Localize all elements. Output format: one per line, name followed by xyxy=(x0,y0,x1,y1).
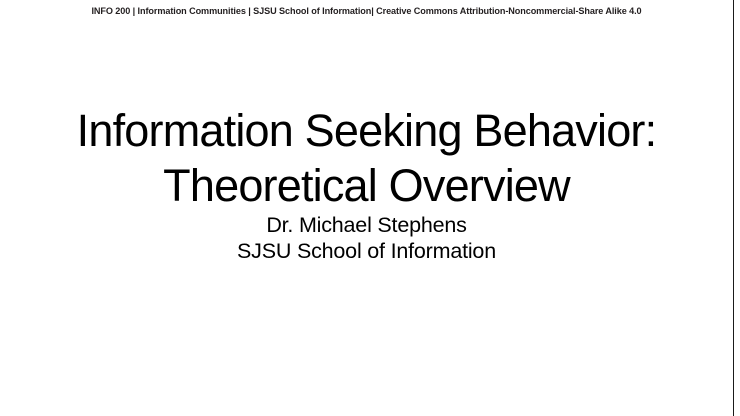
slide-subtitle: Dr. Michael Stephens SJSU School of Info… xyxy=(0,212,733,264)
slide-body-empty-area xyxy=(0,266,733,416)
window-right-border xyxy=(733,0,734,416)
title-line-1: Information Seeking Behavior: xyxy=(0,103,733,158)
slide-title: Information Seeking Behavior: Theoretica… xyxy=(0,103,733,213)
attribution-header: INFO 200 | Information Communities | SJS… xyxy=(0,0,733,22)
attribution-text: INFO 200 | Information Communities | SJS… xyxy=(91,6,641,17)
presenter-name: Dr. Michael Stephens xyxy=(0,212,733,238)
title-line-2: Theoretical Overview xyxy=(0,158,733,213)
presentation-slide: INFO 200 | Information Communities | SJS… xyxy=(0,0,740,416)
presenter-affiliation: SJSU School of Information xyxy=(0,238,733,264)
